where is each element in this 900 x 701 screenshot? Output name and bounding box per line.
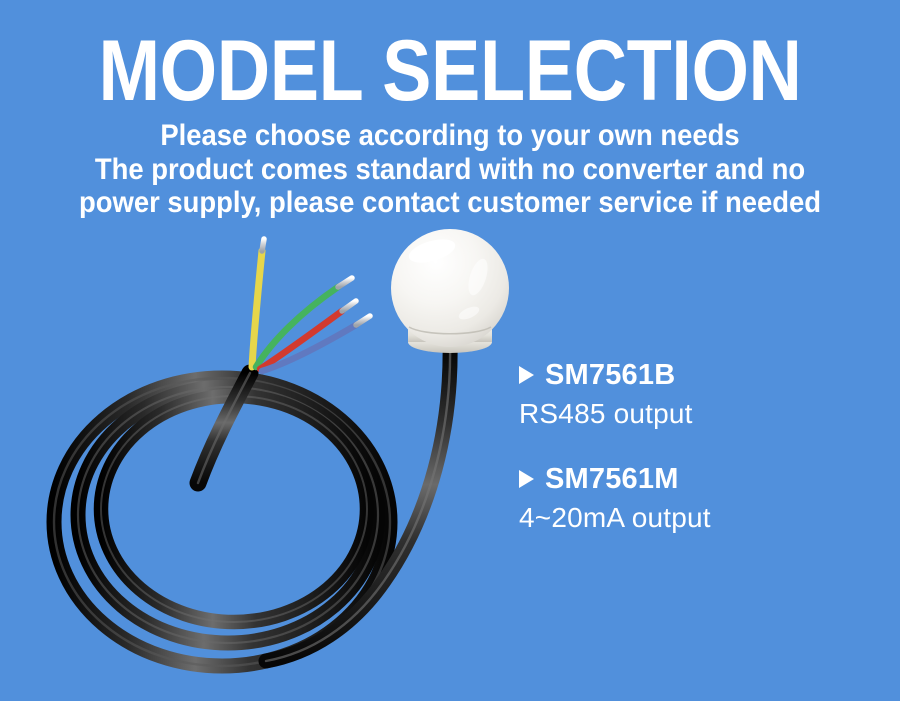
model-name: SM7561M <box>545 461 679 497</box>
model-selection-banner: MODEL SELECTION Please choose according … <box>0 0 900 701</box>
model-list: SM7561B RS485 output SM7561M 4~20mA outp… <box>519 357 711 535</box>
yellow-wire-tip <box>262 239 264 251</box>
triangle-right-icon <box>519 366 534 384</box>
subtitle-block: Please choose according to your own need… <box>32 119 869 220</box>
subtitle-line-1: Please choose according to your own need… <box>32 119 869 153</box>
sensor-sphere <box>391 229 509 353</box>
triangle-right-icon <box>519 470 534 488</box>
red-wire-tip <box>342 301 356 311</box>
heading-block: MODEL SELECTION Please choose according … <box>0 0 900 220</box>
model-name-row: SM7561M <box>519 461 711 497</box>
model-output-label: RS485 output <box>519 396 711 431</box>
green-wire-tip <box>338 278 352 287</box>
model-name: SM7561B <box>545 357 675 393</box>
stripped-wires <box>252 239 370 371</box>
subtitle-line-2: The product comes standard with no conve… <box>32 153 869 187</box>
sensor-illustration <box>0 215 560 701</box>
model-output-label: 4~20mA output <box>519 500 711 535</box>
model-item-sm7561b[interactable]: SM7561B RS485 output <box>519 357 711 431</box>
page-title: MODEL SELECTION <box>63 0 837 115</box>
model-name-row: SM7561B <box>519 357 711 393</box>
subtitle-line-3: power supply, please contact customer se… <box>32 186 869 220</box>
product-photo <box>0 215 560 701</box>
blue-wire-tip <box>356 316 370 325</box>
model-item-sm7561m[interactable]: SM7561M 4~20mA output <box>519 461 711 535</box>
